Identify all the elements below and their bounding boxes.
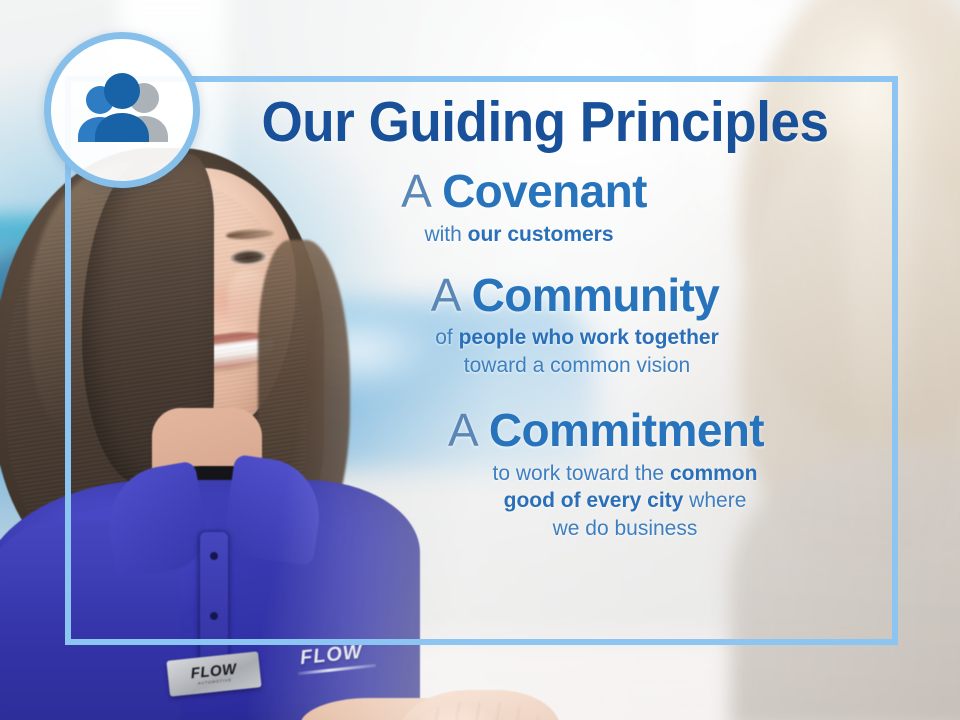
guiding-principles-poster: FLOW AUTOMOTIVE FLOW — [0, 0, 960, 720]
subtext-plain-after: where — [683, 489, 746, 512]
principle-subtext-covenant: with our customers — [200, 221, 890, 249]
subtext-plain-before: we do business — [553, 517, 698, 540]
principle-headline-covenant: A Covenant — [200, 167, 890, 216]
subtext-line: to work toward the common — [360, 460, 890, 488]
principle-block-community: A Community of people who work together … — [200, 271, 890, 380]
principle-word: Commitment — [489, 404, 764, 456]
principle-word: Covenant — [442, 165, 647, 217]
principle-subtext-commitment: to work toward the common good of every … — [200, 460, 890, 543]
principle-block-covenant: A Covenant with our customers — [200, 167, 890, 248]
subtext-line: toward a common vision — [264, 352, 890, 380]
subtext-line: we do business — [360, 515, 890, 543]
subtext-plain-before: to work toward the — [493, 462, 670, 485]
principle-subtext-community: of people who work together toward a com… — [200, 324, 890, 379]
subtext-bold: common — [670, 462, 758, 485]
subtext-bold: our customers — [468, 223, 614, 246]
people-badge-circle — [44, 32, 200, 188]
principle-block-commitment: A Commitment to work toward the common g… — [200, 406, 890, 543]
subtext-plain-before: toward a common vision — [464, 354, 690, 377]
subtext-plain-before: with — [424, 223, 467, 246]
principle-article: A — [431, 269, 459, 321]
principle-headline-community: A Community — [200, 271, 890, 320]
people-group-icon — [70, 72, 174, 148]
subtext-line: with our customers — [424, 223, 613, 246]
name-badge-subtitle: AUTOMOTIVE — [198, 678, 233, 685]
principle-article: A — [448, 404, 476, 456]
subtext-line: good of every city where — [360, 487, 890, 515]
subtext-bold: good of every city — [504, 489, 684, 512]
page-title: Our Guiding Principles — [224, 93, 866, 151]
text-column: Our Guiding Principles A Covenant with o… — [200, 76, 890, 645]
principle-article: A — [401, 165, 429, 217]
subtext-bold: people who work together — [459, 326, 719, 349]
subtext-plain-before: of — [435, 326, 458, 349]
principle-word: Community — [472, 269, 720, 321]
principle-headline-commitment: A Commitment — [200, 406, 890, 455]
subtext-line: of people who work together — [264, 324, 890, 352]
